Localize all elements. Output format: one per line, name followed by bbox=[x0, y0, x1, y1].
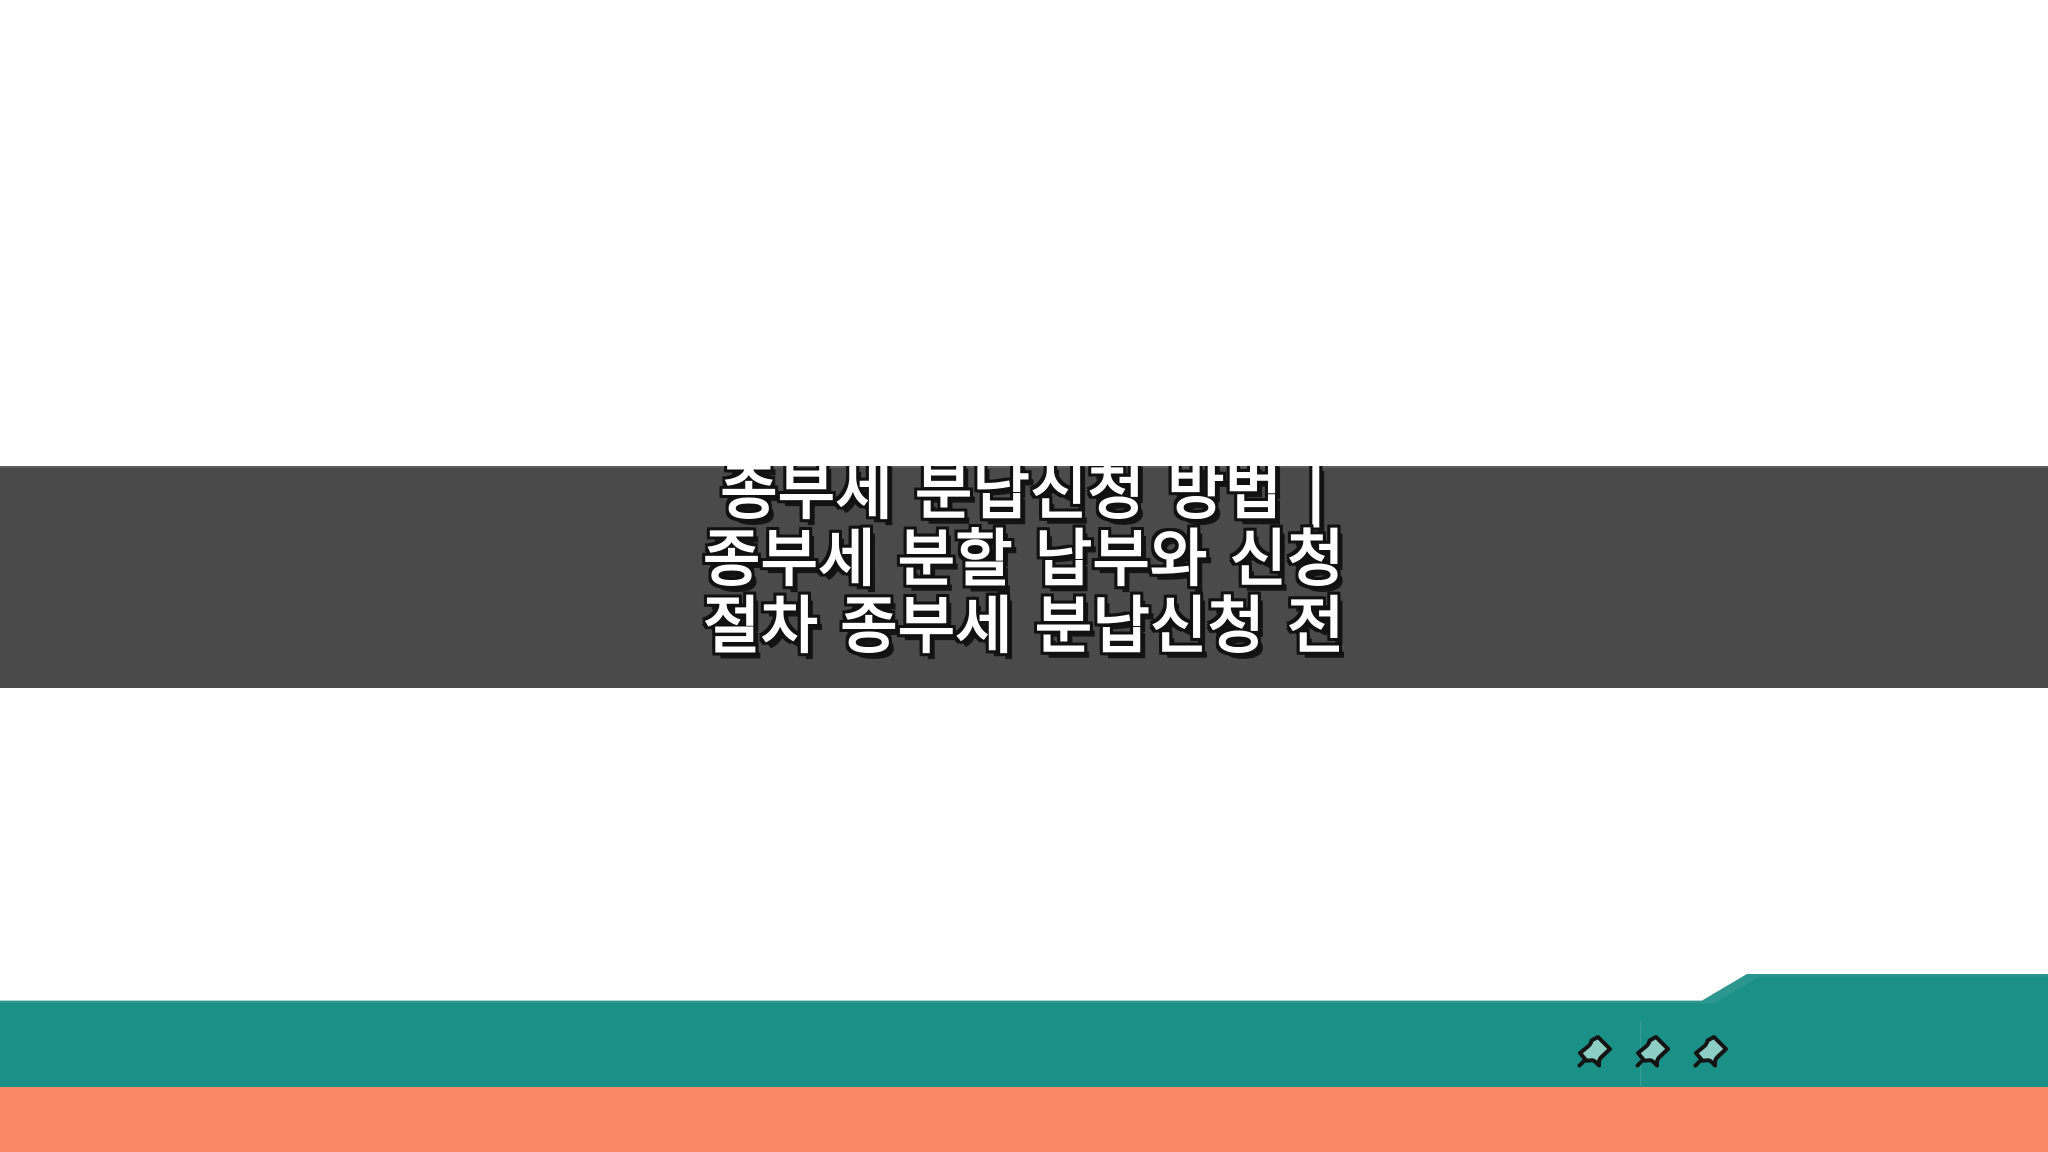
pushpin-icon-2[interactable] bbox=[1630, 1029, 1674, 1073]
title-line-2: 종부세 분할 납부와 신청 bbox=[0, 527, 2048, 594]
teal-band bbox=[0, 960, 2048, 1087]
title-banner: 종부세 분납신청 방법 | 종부세 분할 납부와 신청 절차 종부세 분납신청 … bbox=[0, 466, 2048, 688]
coral-band bbox=[0, 1087, 2048, 1152]
pushpin-icon-3[interactable] bbox=[1688, 1029, 1732, 1073]
screenshot-root: 종부세 분납신청 방법 | 종부세 분할 납부와 신청 절차 종부세 분납신청 … bbox=[0, 0, 2048, 1152]
title-text-stack: 종부세 분납신청 방법 | 종부세 분할 납부와 신청 절차 종부세 분납신청 … bbox=[0, 466, 2048, 662]
teal-band-highlight bbox=[0, 960, 2048, 1087]
upper-blank-area bbox=[0, 0, 2048, 466]
pushpin-icon-row bbox=[1572, 1027, 1732, 1075]
title-line-1: 종부세 분납신청 방법 | bbox=[0, 466, 2048, 527]
pushpin-icon-1[interactable] bbox=[1572, 1029, 1616, 1073]
title-line-3: 절차 종부세 분납신청 전 bbox=[0, 594, 2048, 661]
